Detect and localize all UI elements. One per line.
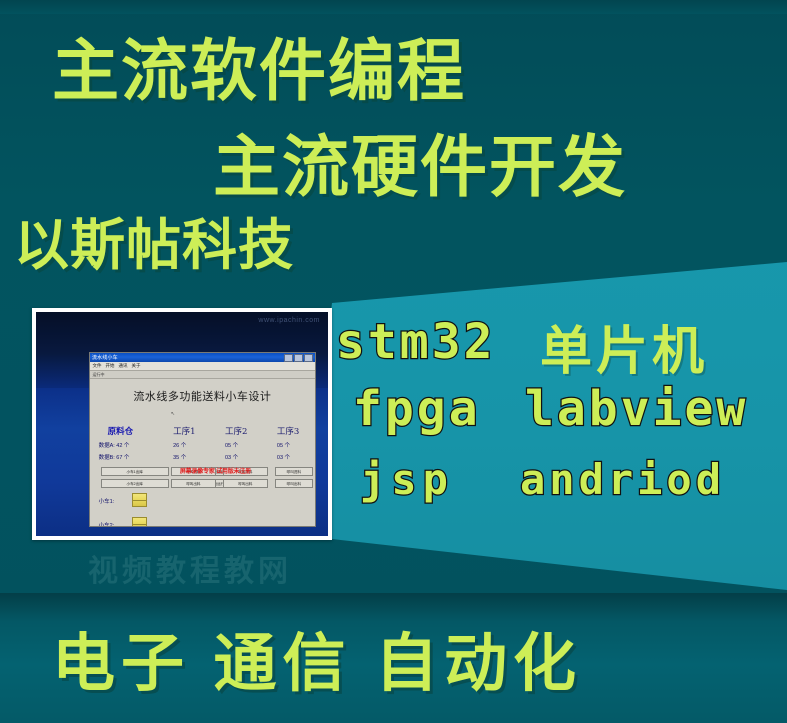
embedded-screenshot-frame: www.ipachin.com 流水线小车 文件 开始 通讯 关于 运 xyxy=(32,308,332,540)
maximize-button[interactable] xyxy=(294,354,303,362)
cart2-label: 小车2: xyxy=(99,521,115,527)
button-p3-in[interactable]: 呼叫进料 xyxy=(275,467,313,476)
menu-item-comm[interactable]: 通讯 xyxy=(119,363,128,369)
cart2-box-icon xyxy=(132,517,147,527)
button-p3-out[interactable]: 呼叫出料 xyxy=(275,479,313,488)
trial-version-stamp: 屏幕录像专家 试用版未注册 xyxy=(180,466,251,475)
p1-row-a: 26 个 xyxy=(173,441,186,449)
keyword-danpianji: 单片机 xyxy=(540,309,708,384)
p3-row-a: 05 个 xyxy=(277,441,290,449)
cart1-label: 小车1: xyxy=(99,497,115,505)
column-header-process-1: 工序1 xyxy=(173,425,195,437)
window-toolbar: 运行中 xyxy=(90,371,316,379)
keyword-jsp: jsp xyxy=(360,455,454,504)
column-header-process-2: 工序2 xyxy=(225,425,247,437)
button-cart1-out[interactable]: 小车1出库 xyxy=(101,467,169,476)
window-menubar[interactable]: 文件 开始 通讯 关于 xyxy=(90,362,316,371)
column-header-process-3: 工序3 xyxy=(277,425,299,437)
p2-row-b: 03 个 xyxy=(225,453,238,461)
headline-primary: 主流软件编程 xyxy=(52,17,466,114)
column-header-raw-warehouse: 原料仓 xyxy=(108,425,134,437)
cart1-box-icon xyxy=(132,493,147,507)
application-window: 流水线小车 文件 开始 通讯 关于 运行中 流水线多功能送料小车设计 xyxy=(89,352,317,527)
p1-row-b: 35 个 xyxy=(173,453,186,461)
keyword-labview: labview xyxy=(525,381,748,437)
watermark-text: 视频教程教网 xyxy=(88,546,292,590)
menu-item-about[interactable]: 关于 xyxy=(132,363,141,369)
window-titlebar: 流水线小车 xyxy=(90,353,316,362)
bottom-keywords: 电子 通信 自动化 xyxy=(52,613,582,704)
mouse-cursor-icon: ↖ xyxy=(171,411,175,417)
raw-row-b: 数据B: 67 个 xyxy=(99,453,130,461)
raw-row-a: 数据A: 42 个 xyxy=(99,441,130,449)
close-button[interactable] xyxy=(304,354,313,362)
desktop-url-watermark: www.ipachin.com xyxy=(258,317,320,324)
minimize-button[interactable] xyxy=(284,354,293,362)
button-cart2-out[interactable]: 小车2出库 xyxy=(101,479,169,488)
brand-name: 以斯帖科技 xyxy=(14,200,294,280)
window-content: 流水线多功能送料小车设计 ↖ 原料仓 数据A: 42 个 数据B: 67 个 小… xyxy=(90,379,316,527)
keyword-fpga: fpga xyxy=(353,381,481,437)
window-title: 流水线小车 xyxy=(92,355,118,362)
embedded-screenshot: www.ipachin.com 流水线小车 文件 开始 通讯 关于 运 xyxy=(36,312,328,536)
window-controls[interactable] xyxy=(284,354,313,362)
button-p1-out[interactable]: 呼叫出料 xyxy=(171,479,216,488)
keyword-andriod: andriod xyxy=(520,455,725,504)
p2-row-a: 05 个 xyxy=(225,441,238,449)
menu-item-start[interactable]: 开始 xyxy=(106,363,115,369)
menu-item-file[interactable]: 文件 xyxy=(93,363,102,369)
p3-row-b: 03 个 xyxy=(277,453,290,461)
background-top-sheen xyxy=(0,0,787,14)
headline-secondary: 主流硬件开发 xyxy=(213,113,627,210)
button-p2-out[interactable]: 呼叫出料 xyxy=(223,479,268,488)
promo-poster: 主流软件编程 主流硬件开发 以斯帖科技 stm32 单片机 fpga labvi… xyxy=(0,0,787,723)
keyword-stm32: stm32 xyxy=(336,314,496,370)
app-heading: 流水线多功能送料小车设计 xyxy=(90,388,316,404)
